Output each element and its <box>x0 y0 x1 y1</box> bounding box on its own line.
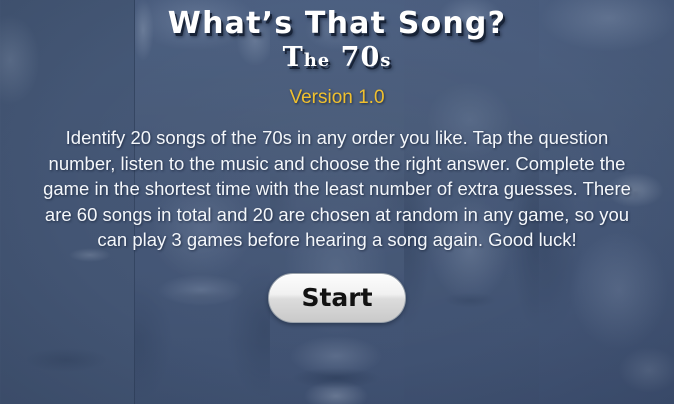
splash-screen: What’s That Song? The 70s Version 1.0 Id… <box>0 0 674 404</box>
subtitle-part-s: s <box>380 50 391 71</box>
subtitle-part-t: T <box>283 42 304 73</box>
game-title: What’s That Song? <box>168 9 506 39</box>
subtitle-part-he: he <box>304 50 331 71</box>
game-subtitle: The 70s <box>168 44 506 71</box>
version-label: Version 1.0 <box>289 87 384 109</box>
subtitle-part-seventy: 70 <box>341 42 381 73</box>
instructions-text: Identify 20 songs of the 70s in any orde… <box>37 125 637 253</box>
splash-content: What’s That Song? The 70s Version 1.0 Id… <box>0 0 674 404</box>
start-button-wrap: Start <box>268 273 406 323</box>
game-title-block: What’s That Song? The 70s <box>168 9 506 71</box>
start-button[interactable]: Start <box>268 273 406 323</box>
subtitle-spacer <box>330 42 340 73</box>
